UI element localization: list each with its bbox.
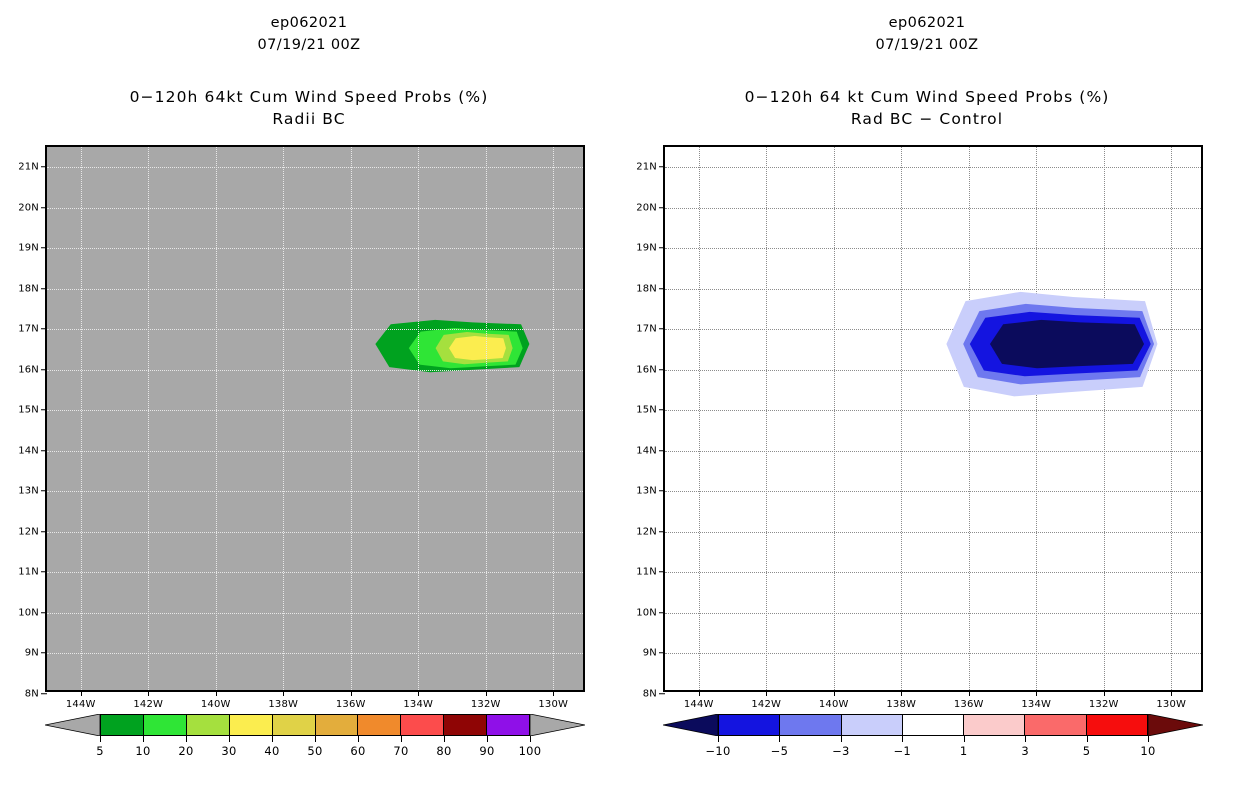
y-tick-label: 16N xyxy=(18,364,39,375)
colorbar-segment xyxy=(230,715,273,735)
right-storm-id: ep062021 xyxy=(618,12,1236,34)
x-tick-label: 142W xyxy=(133,699,163,710)
x-tick-label: 140W xyxy=(201,699,231,710)
colorbar-segment xyxy=(1087,715,1147,735)
gridline-vertical-faint xyxy=(418,147,419,690)
y-tickmark xyxy=(659,531,665,532)
colorbar-tickmark xyxy=(530,736,531,742)
y-tickmark xyxy=(659,450,665,451)
x-tickmark xyxy=(1036,690,1037,696)
colorbar-segment xyxy=(780,715,841,735)
y-tickmark xyxy=(659,369,665,370)
y-tickmark xyxy=(41,207,47,208)
gridline-vertical-faint xyxy=(216,147,217,690)
left-colorbar-extend-low-arrow xyxy=(45,714,100,736)
left-product-title: 0−120h 64kt Cum Wind Speed Probs (%) xyxy=(0,86,618,108)
y-tick-label: 17N xyxy=(636,324,657,335)
colorbar-tick-label: 3 xyxy=(1021,744,1029,758)
left-title-block-top: ep062021 07/19/21 00Z xyxy=(0,12,618,56)
colorbar-tick-label: 30 xyxy=(221,744,236,758)
colorbar-tick-label: 10 xyxy=(1140,744,1155,758)
y-tick-label: 9N xyxy=(25,648,39,659)
y-tickmark xyxy=(41,693,47,694)
y-tickmark xyxy=(41,369,47,370)
contour-band xyxy=(990,320,1144,368)
colorbar-tickmark xyxy=(358,736,359,742)
right-colorbar-extend-high-arrow xyxy=(1148,714,1203,736)
x-tickmark xyxy=(418,690,419,696)
left-storm-id: ep062021 xyxy=(0,12,618,34)
colorbar-segment xyxy=(719,715,780,735)
colorbar-tickmark xyxy=(229,736,230,742)
colorbar-segment xyxy=(401,715,444,735)
x-tick-label: 132W xyxy=(471,699,501,710)
right-title-block-product: 0−120h 64 kt Cum Wind Speed Probs (%) Ra… xyxy=(618,86,1236,130)
colorbar-tick-label: 20 xyxy=(178,744,193,758)
right-plot-area xyxy=(665,147,1201,690)
y-tickmark xyxy=(41,531,47,532)
x-tick-label: 130W xyxy=(538,699,568,710)
x-tickmark xyxy=(901,690,902,696)
colorbar-segment xyxy=(903,715,964,735)
colorbar-tickmark xyxy=(315,736,316,742)
y-tick-label: 19N xyxy=(18,243,39,254)
y-tick-label: 10N xyxy=(18,607,39,618)
y-tick-label: 10N xyxy=(636,607,657,618)
right-colorbar-segments xyxy=(718,714,1148,736)
colorbar-tickmark xyxy=(1087,736,1088,742)
x-tickmark xyxy=(486,690,487,696)
y-tick-label: 11N xyxy=(636,567,657,578)
colorbar-tick-label: 1 xyxy=(960,744,968,758)
colorbar-tickmark xyxy=(964,736,965,742)
x-tick-label: 138W xyxy=(886,699,916,710)
colorbar-segment xyxy=(101,715,144,735)
x-tick-label: 136W xyxy=(336,699,366,710)
colorbar-segment xyxy=(964,715,1025,735)
y-tick-label: 18N xyxy=(636,283,657,294)
gridline-horizontal-faint xyxy=(47,532,583,533)
gridline-horizontal-faint xyxy=(47,572,583,573)
gridline-horizontal-faint xyxy=(47,491,583,492)
colorbar-tickmark xyxy=(779,736,780,742)
gridline-vertical-faint xyxy=(351,147,352,690)
y-tickmark xyxy=(41,410,47,411)
y-tick-label: 15N xyxy=(18,405,39,416)
y-tickmark xyxy=(41,288,47,289)
right-colorbar-extend-low-arrow xyxy=(663,714,718,736)
gridline-vertical-faint xyxy=(553,147,554,690)
colorbar-tick-label: 60 xyxy=(350,744,365,758)
left-product-subtitle: Radii BC xyxy=(0,108,618,130)
y-tick-label: 8N xyxy=(25,689,39,700)
y-tick-label: 16N xyxy=(636,364,657,375)
y-tick-label: 20N xyxy=(18,202,39,213)
colorbar-tick-label: −1 xyxy=(894,744,912,758)
colorbar-tickmark xyxy=(186,736,187,742)
y-tick-label: 21N xyxy=(636,162,657,173)
gridline-horizontal-faint xyxy=(47,410,583,411)
left-colorbar-ticks: 5102030405060708090100 xyxy=(100,736,530,768)
colorbar-tick-label: −3 xyxy=(832,744,850,758)
colorbar-tick-label: 5 xyxy=(96,744,104,758)
x-tickmark xyxy=(351,690,352,696)
colorbar-segment xyxy=(316,715,359,735)
colorbar-segment xyxy=(144,715,187,735)
gridline-horizontal-faint xyxy=(47,248,583,249)
right-map-axes: 8N9N10N11N12N13N14N15N16N17N18N19N20N21N… xyxy=(663,145,1203,692)
right-product-title: 0−120h 64 kt Cum Wind Speed Probs (%) xyxy=(618,86,1236,108)
colorbar-tickmark xyxy=(401,736,402,742)
right-title-block-top: ep062021 07/19/21 00Z xyxy=(618,12,1236,56)
x-tick-label: 134W xyxy=(1021,699,1051,710)
y-tickmark xyxy=(41,572,47,573)
x-tickmark xyxy=(1171,690,1172,696)
x-tick-label: 142W xyxy=(751,699,781,710)
colorbar-tick-label: 70 xyxy=(393,744,408,758)
y-tick-label: 12N xyxy=(636,526,657,537)
panel-right: ep062021 07/19/21 00Z 0−120h 64 kt Cum W… xyxy=(618,0,1236,800)
x-tick-label: 134W xyxy=(403,699,433,710)
y-tick-label: 17N xyxy=(18,324,39,335)
x-tickmark xyxy=(834,690,835,696)
y-tickmark xyxy=(659,491,665,492)
gridline-vertical-faint xyxy=(486,147,487,690)
colorbar-tick-label: −10 xyxy=(705,744,730,758)
left-colorbar-extend-high-arrow xyxy=(530,714,585,736)
gridline-horizontal-faint xyxy=(47,167,583,168)
colorbar-tickmark xyxy=(100,736,101,742)
y-tickmark xyxy=(41,612,47,613)
colorbar-tick-label: 90 xyxy=(479,744,494,758)
colorbar-tickmark xyxy=(1025,736,1026,742)
gridline-horizontal-faint xyxy=(47,653,583,654)
x-tickmark xyxy=(699,690,700,696)
right-colorbar: −10−5−3−113510 xyxy=(663,714,1203,776)
gridline-horizontal-faint xyxy=(47,451,583,452)
left-map-axes: 8N9N10N11N12N13N14N15N16N17N18N19N20N21N… xyxy=(45,145,585,692)
colorbar-tick-label: −5 xyxy=(771,744,789,758)
colorbar-tickmark xyxy=(902,736,903,742)
gridline-horizontal-faint xyxy=(47,370,583,371)
y-tick-label: 9N xyxy=(643,648,657,659)
y-tick-label: 19N xyxy=(636,243,657,254)
x-tickmark xyxy=(216,690,217,696)
left-colorbar-segments xyxy=(100,714,530,736)
left-colorbar: 5102030405060708090100 xyxy=(45,714,585,776)
left-contour-field xyxy=(47,147,583,690)
colorbar-tick-label: 5 xyxy=(1083,744,1091,758)
y-tick-label: 18N xyxy=(18,283,39,294)
y-tickmark xyxy=(659,410,665,411)
y-tickmark xyxy=(659,329,665,330)
x-tick-label: 140W xyxy=(819,699,849,710)
colorbar-tickmark xyxy=(718,736,719,742)
y-tickmark xyxy=(41,248,47,249)
gridline-vertical-faint xyxy=(81,147,82,690)
y-tick-label: 14N xyxy=(18,445,39,456)
x-tickmark xyxy=(969,690,970,696)
x-tick-label: 144W xyxy=(66,699,96,710)
x-tick-label: 136W xyxy=(954,699,984,710)
y-tick-label: 12N xyxy=(18,526,39,537)
y-tick-label: 13N xyxy=(18,486,39,497)
colorbar-tickmark xyxy=(444,736,445,742)
y-tickmark xyxy=(41,653,47,654)
y-tick-label: 11N xyxy=(18,567,39,578)
gridline-horizontal-faint xyxy=(47,208,583,209)
colorbar-segment xyxy=(1025,715,1086,735)
colorbar-tick-label: 10 xyxy=(135,744,150,758)
colorbar-tickmark xyxy=(272,736,273,742)
gridline-horizontal-faint xyxy=(47,329,583,330)
right-colorbar-ticks: −10−5−3−113510 xyxy=(718,736,1148,768)
right-product-subtitle: Rad BC − Control xyxy=(618,108,1236,130)
y-tickmark xyxy=(659,572,665,573)
colorbar-tick-label: 40 xyxy=(264,744,279,758)
y-tickmark xyxy=(41,491,47,492)
y-tickmark xyxy=(659,207,665,208)
colorbar-segment xyxy=(444,715,487,735)
colorbar-tick-label: 50 xyxy=(307,744,322,758)
y-tickmark xyxy=(659,653,665,654)
panel-left: ep062021 07/19/21 00Z 0−120h 64kt Cum Wi… xyxy=(0,0,618,800)
colorbar-tickmark xyxy=(487,736,488,742)
gridline-horizontal-faint xyxy=(47,289,583,290)
y-tickmark xyxy=(659,693,665,694)
y-tickmark xyxy=(41,167,47,168)
x-tick-label: 144W xyxy=(684,699,714,710)
colorbar-tick-label: 80 xyxy=(436,744,451,758)
y-tickmark xyxy=(659,248,665,249)
x-tickmark xyxy=(553,690,554,696)
y-tick-label: 14N xyxy=(636,445,657,456)
left-title-block-product: 0−120h 64kt Cum Wind Speed Probs (%) Rad… xyxy=(0,86,618,130)
y-tickmark xyxy=(659,612,665,613)
colorbar-segment xyxy=(358,715,401,735)
colorbar-segment xyxy=(487,715,529,735)
gridline-horizontal-faint xyxy=(47,613,583,614)
colorbar-segment xyxy=(273,715,316,735)
gridline-vertical-faint xyxy=(148,147,149,690)
colorbar-tickmark xyxy=(143,736,144,742)
colorbar-tick-label: 100 xyxy=(519,744,542,758)
y-tick-label: 15N xyxy=(636,405,657,416)
left-plot-area xyxy=(47,147,583,690)
right-valid-time: 07/19/21 00Z xyxy=(618,34,1236,56)
y-tickmark xyxy=(41,329,47,330)
y-tick-label: 21N xyxy=(18,162,39,173)
y-tick-label: 8N xyxy=(643,689,657,700)
y-tickmark xyxy=(41,450,47,451)
x-tickmark xyxy=(148,690,149,696)
contour-band xyxy=(449,336,506,360)
y-tickmark xyxy=(659,288,665,289)
x-tick-label: 132W xyxy=(1089,699,1119,710)
y-tick-label: 20N xyxy=(636,202,657,213)
x-tickmark xyxy=(766,690,767,696)
colorbar-segment xyxy=(187,715,230,735)
x-tick-label: 130W xyxy=(1156,699,1186,710)
x-tick-label: 138W xyxy=(268,699,298,710)
colorbar-tickmark xyxy=(1148,736,1149,742)
left-valid-time: 07/19/21 00Z xyxy=(0,34,618,56)
x-tickmark xyxy=(81,690,82,696)
colorbar-segment xyxy=(842,715,903,735)
y-tick-label: 13N xyxy=(636,486,657,497)
y-tickmark xyxy=(659,167,665,168)
x-tickmark xyxy=(1104,690,1105,696)
colorbar-tickmark xyxy=(841,736,842,742)
x-tickmark xyxy=(283,690,284,696)
gridline-vertical-faint xyxy=(283,147,284,690)
right-contour-field xyxy=(665,147,1201,690)
